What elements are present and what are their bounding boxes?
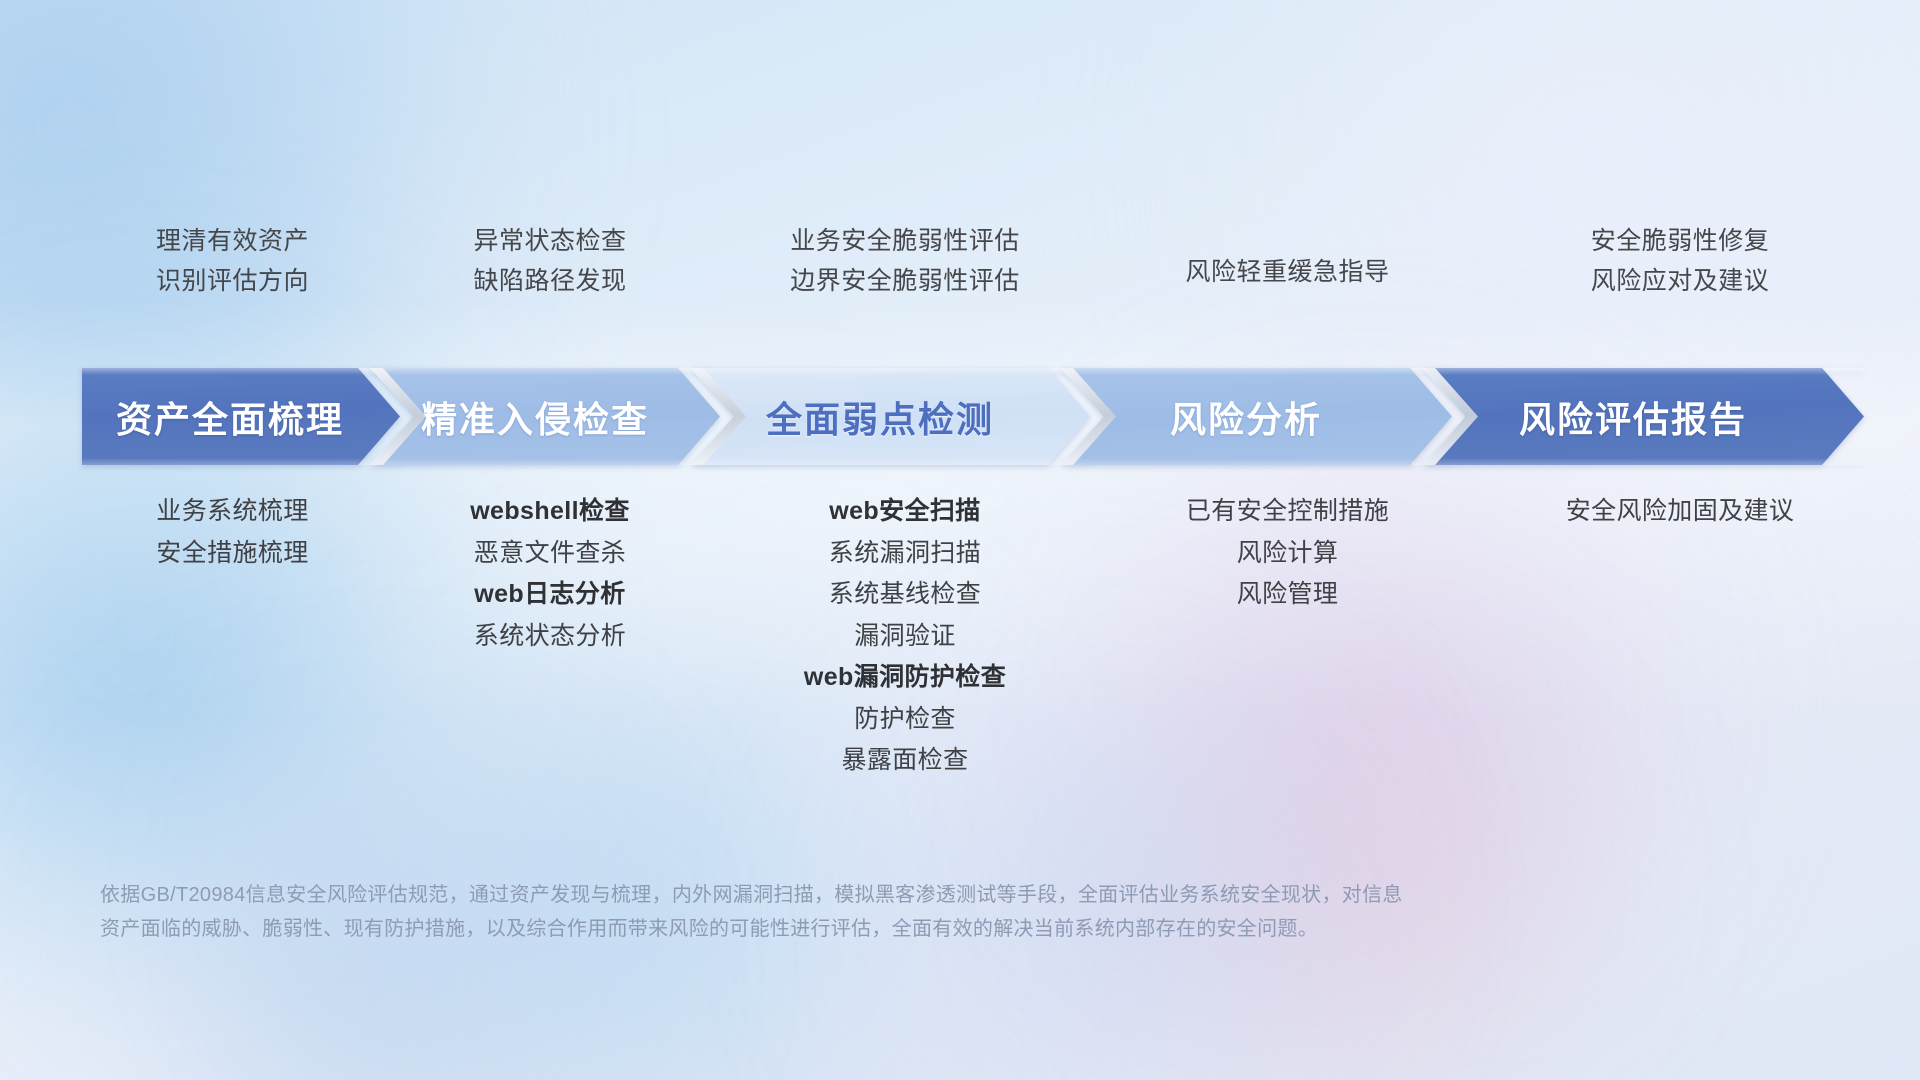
list-item: 风险计算 bbox=[1237, 540, 1339, 568]
process-diagram: 理清有效资产 识别评估方向 异常状态检查 缺陷路径发现 业务安全脆弱性评估 边界… bbox=[0, 0, 1920, 1080]
footer-line-2: 资产面临的威胁、脆弱性、现有防护措施，以及综合作用而带来风险的可能性进行评估，全… bbox=[100, 912, 1700, 946]
footer-description: 依据GB/T20984信息安全风险评估规范，通过资产发现与梳理，内外网漏洞扫描，… bbox=[100, 878, 1700, 946]
list-item: 防护检查 bbox=[854, 706, 956, 734]
note-line: 业务安全脆弱性评估 bbox=[790, 228, 1020, 254]
list-item: web日志分析 bbox=[474, 581, 625, 609]
note-line: 安全脆弱性修复 bbox=[1591, 228, 1770, 254]
list-item: 暴露面检查 bbox=[841, 747, 968, 775]
stage-arrow-1[interactable]: 资产全面梳理 bbox=[82, 368, 400, 465]
top-notes-stage-2: 异常状态检查 缺陷路径发现 bbox=[385, 228, 715, 295]
list-item: 系统状态分析 bbox=[474, 623, 626, 651]
list-item: webshell检查 bbox=[470, 498, 630, 526]
stage-arrow-label: 资产全面梳理 bbox=[116, 391, 344, 443]
list-item: 已有安全控制措施 bbox=[1186, 498, 1389, 526]
list-item: 安全风险加固及建议 bbox=[1566, 498, 1795, 526]
stage-items-4: 已有安全控制措施 风险计算 风险管理 bbox=[1095, 498, 1480, 775]
top-notes-stage-3: 业务安全脆弱性评估 边界安全脆弱性评估 bbox=[715, 228, 1095, 295]
list-item: 漏洞验证 bbox=[854, 623, 956, 651]
stage-arrow-label: 风险分析 bbox=[1170, 391, 1322, 443]
top-notes-stage-1: 理清有效资产 识别评估方向 bbox=[80, 228, 385, 295]
list-item: 系统基线检查 bbox=[829, 581, 981, 609]
list-item: web安全扫描 bbox=[829, 498, 980, 526]
stage-arrow-label: 精准入侵检查 bbox=[421, 391, 649, 443]
note-line: 异常状态检查 bbox=[473, 228, 626, 254]
stage-arrow-label: 风险评估报告 bbox=[1519, 391, 1747, 443]
stage-items-1: 业务系统梳理 安全措施梳理 bbox=[80, 498, 385, 775]
stage-items-3: web安全扫描 系统漏洞扫描 系统基线检查 漏洞验证 web漏洞防护检查 防护检… bbox=[715, 498, 1095, 775]
list-item: 风险管理 bbox=[1237, 581, 1339, 609]
top-notes-row: 理清有效资产 识别评估方向 异常状态检查 缺陷路径发现 业务安全脆弱性评估 边界… bbox=[80, 228, 1880, 295]
stage-arrow-4[interactable]: 风险分析 bbox=[1062, 368, 1452, 465]
list-item: web漏洞防护检查 bbox=[804, 664, 1006, 692]
note-line: 风险应对及建议 bbox=[1591, 268, 1770, 294]
top-notes-stage-4: 风险轻重缓急指导 bbox=[1095, 228, 1480, 295]
stage-items-2: webshell检查 恶意文件查杀 web日志分析 系统状态分析 bbox=[385, 498, 715, 775]
note-line: 风险轻重缓急指导 bbox=[1185, 259, 1389, 285]
note-line: 识别评估方向 bbox=[156, 268, 309, 294]
stage-arrow-banner: 资产全面梳理 精准入侵检查 全面弱点检测 风险分析 风险评估报告 bbox=[82, 368, 1864, 465]
top-notes-stage-5: 安全脆弱性修复 风险应对及建议 bbox=[1480, 228, 1880, 295]
footer-line-1: 依据GB/T20984信息安全风险评估规范，通过资产发现与梳理，内外网漏洞扫描，… bbox=[100, 878, 1700, 912]
stage-items-row: 业务系统梳理 安全措施梳理 webshell检查 恶意文件查杀 web日志分析 … bbox=[80, 498, 1880, 775]
note-line: 理清有效资产 bbox=[156, 228, 309, 254]
stage-arrow-label: 全面弱点检测 bbox=[766, 391, 994, 443]
list-item: 业务系统梳理 bbox=[156, 498, 308, 526]
stage-arrow-3[interactable]: 全面弱点检测 bbox=[692, 368, 1090, 465]
list-item: 恶意文件查杀 bbox=[474, 540, 626, 568]
list-item: 安全措施梳理 bbox=[156, 540, 308, 568]
stage-arrow-5[interactable]: 风险评估报告 bbox=[1424, 368, 1864, 465]
stage-items-5: 安全风险加固及建议 bbox=[1480, 498, 1880, 775]
note-line: 缺陷路径发现 bbox=[473, 268, 626, 294]
list-item: 系统漏洞扫描 bbox=[829, 540, 981, 568]
note-line: 边界安全脆弱性评估 bbox=[790, 268, 1020, 294]
